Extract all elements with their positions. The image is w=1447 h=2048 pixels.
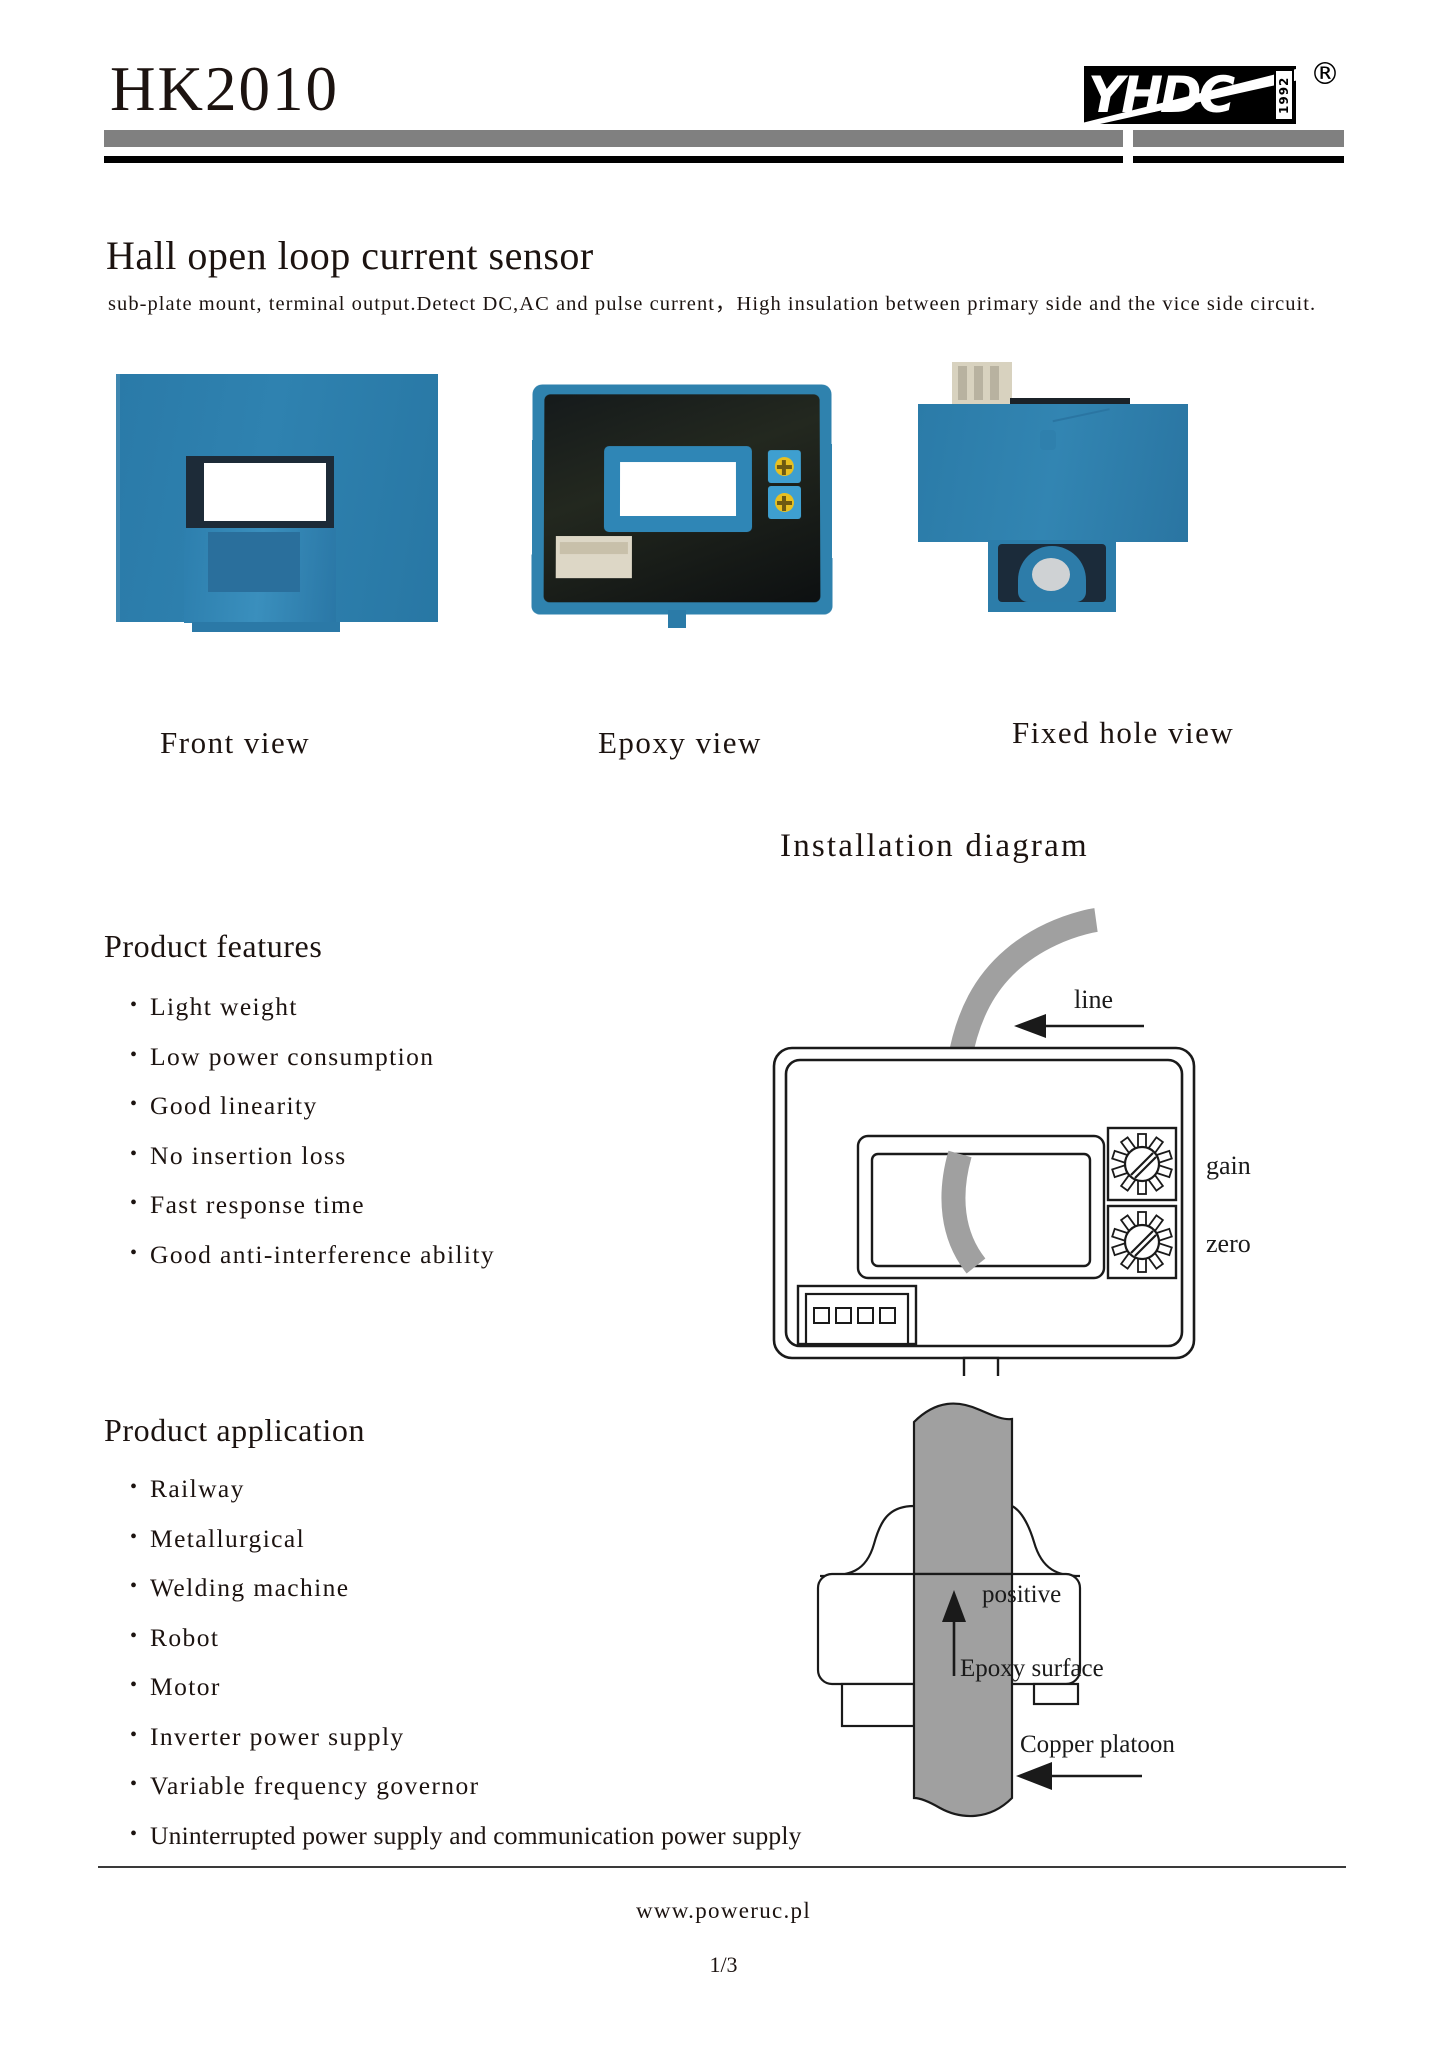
front-view-window-aperture (204, 463, 326, 521)
connector-pin (836, 1308, 851, 1323)
epoxy-view-window-frame (604, 446, 752, 532)
logo-year-label: 1992 (1274, 69, 1294, 121)
installation-diagram-bottom: positive Epoxy surface Copper platoon (790, 1384, 1310, 1844)
list-item: Welding machine (128, 1563, 802, 1613)
header-rule-black-right (1133, 156, 1344, 163)
list-item: Metallurgical (128, 1514, 802, 1564)
fixed-hole-view-connector (952, 362, 1012, 404)
header-rule-grey-right (1133, 130, 1344, 147)
front-view-foot (192, 622, 340, 632)
product-features-list: Light weight Low power consumption Good … (128, 982, 495, 1279)
fixed-hole-view-mounting-hole (1032, 558, 1070, 591)
sensor-foot-left (842, 1684, 914, 1726)
product-application-title: Product application (104, 1412, 365, 1449)
fixed-hole-view-caption: Fixed hole view (1012, 715, 1234, 751)
list-item: Robot (128, 1613, 802, 1663)
list-item: Variable frequency governor (128, 1761, 802, 1811)
fixed-hole-view-photo (910, 362, 1220, 672)
header-rule-black-left (104, 156, 1123, 163)
epoxy-view-zero-potentiometer (768, 486, 801, 519)
product-heading: Hall open loop current sensor (106, 232, 594, 279)
connector-pin (990, 366, 999, 400)
terminal-connector (798, 1286, 916, 1344)
connector-pin (858, 1308, 873, 1323)
brand-logo: YHDC 1992 ® (1074, 58, 1344, 138)
fixed-hole-view-locating-pin (1040, 430, 1056, 450)
pot-slot-cross-icon-2 (782, 496, 786, 511)
epoxy-view-terminal-connector (556, 536, 632, 578)
header-rule-gap-2 (1123, 156, 1132, 163)
epoxy-view-window-aperture (620, 462, 736, 516)
list-item: Light weight (128, 982, 495, 1032)
footer-website: www.poweruc.pl (0, 1898, 1447, 1924)
list-item: Uninterrupted power supply and communica… (128, 1811, 802, 1861)
product-features-title: Product features (104, 928, 322, 965)
positive-label: positive (982, 1581, 1061, 1608)
header-rule-grey (104, 130, 1344, 147)
list-item: Good linearity (128, 1081, 495, 1131)
epoxy-surface-label: Epoxy surface (960, 1655, 1104, 1682)
list-item: Fast response time (128, 1180, 495, 1230)
installation-diagram-title: Installation diagram (780, 828, 1089, 865)
epoxy-view-photo (532, 362, 842, 662)
page-header: HK2010 YHDC 1992 ® (104, 48, 1344, 188)
list-item: Inverter power supply (128, 1712, 802, 1762)
epoxy-view-gain-potentiometer (768, 450, 801, 483)
page-title: HK2010 (110, 58, 339, 121)
front-view-photo (108, 372, 443, 652)
sensor-foot-tab (964, 1358, 998, 1376)
zero-trimmer-icon (1108, 1206, 1176, 1278)
list-item: No insertion loss (128, 1131, 495, 1181)
logo-wordmark: YHDC (1084, 66, 1296, 124)
gain-label: gain (1206, 1151, 1251, 1180)
installation-diagram-top: line gain zero (736, 896, 1316, 1376)
list-item: Motor (128, 1662, 802, 1712)
copper-platoon-arrow-icon (1016, 1762, 1142, 1790)
connector-pin (974, 366, 983, 400)
footer-page-number: 1/3 (0, 1952, 1447, 1978)
registered-trademark-icon: ® (1310, 60, 1340, 90)
copper-platoon-label: Copper platoon (1020, 1731, 1175, 1758)
sensor-foot-right (1034, 1684, 1078, 1704)
gain-trimmer-icon (1108, 1128, 1176, 1200)
header-rule-black (104, 156, 1344, 163)
line-label: line (1074, 985, 1113, 1014)
line-arrow-icon (1014, 1014, 1144, 1038)
sensor-shoulder-right (1012, 1506, 1080, 1576)
yhdc-logo-icon: YHDC 1992 (1084, 66, 1296, 124)
sensor-shoulder-left (820, 1506, 914, 1576)
product-photo-row (100, 362, 1360, 762)
front-view-center-block-face (208, 532, 300, 592)
epoxy-view-caption: Epoxy view (598, 725, 762, 761)
product-description: sub-plate mount, terminal output.Detect … (108, 290, 1348, 319)
footer-divider (98, 1866, 1346, 1868)
connector-pin (880, 1308, 895, 1323)
epoxy-view-mounting-tab (668, 610, 686, 628)
list-item: Good anti-interference ability (128, 1230, 495, 1280)
header-rule-gap (1123, 130, 1132, 147)
connector-pin (958, 366, 967, 400)
header-rule-grey-left (104, 130, 1123, 147)
zero-label: zero (1206, 1229, 1251, 1258)
front-view-caption: Front view (160, 725, 310, 761)
connector-pin (814, 1308, 829, 1323)
list-item: Low power consumption (128, 1032, 495, 1082)
list-item: Railway (128, 1464, 802, 1514)
copper-busbar-upper (914, 1404, 1012, 1576)
copper-busbar-lower (914, 1574, 1012, 1816)
product-application-list: Railway Metallurgical Welding machine Ro… (128, 1464, 802, 1860)
pot-slot-cross-icon (782, 460, 786, 475)
epoxy-view-shell (531, 384, 832, 614)
